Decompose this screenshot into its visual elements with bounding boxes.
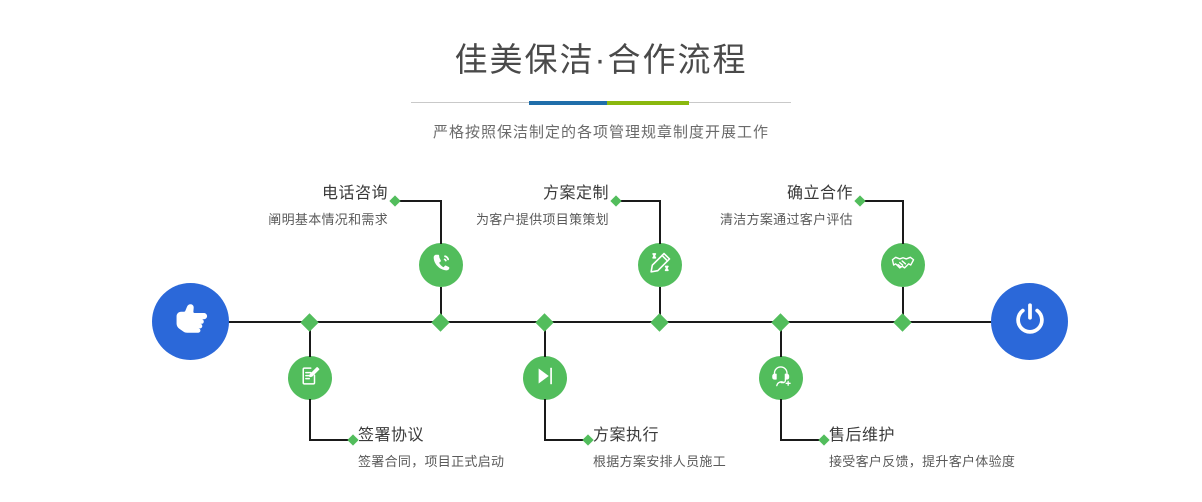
step-label-6: 售后维护 接受客户反馈，提升客户体验度: [829, 428, 1119, 468]
step-node-2[interactable]: [288, 356, 332, 400]
step-desc-5: 清洁方案通过客户评估: [638, 213, 853, 226]
step-leader-vertical-6: [780, 399, 782, 440]
step-axis-marker-6: [771, 313, 789, 331]
customer-support-icon: [769, 363, 794, 393]
pointing-hand-icon: [170, 298, 212, 345]
step-axis-marker-4: [535, 313, 553, 331]
start-endpoint[interactable]: [152, 283, 229, 360]
step-leader-vertical-4: [544, 399, 546, 440]
step-title-6: 售后维护: [829, 428, 1119, 444]
step-label-3: 方案定制 为客户提供项目策策划: [394, 186, 609, 226]
step-node-6[interactable]: [759, 356, 803, 400]
step-leader-marker-5: [854, 195, 865, 206]
step-node-1[interactable]: [419, 243, 463, 287]
step-desc-2: 签署合同，项目正式启动: [358, 455, 618, 468]
power-icon: [1010, 299, 1050, 344]
step-axis-marker-1: [431, 313, 449, 331]
step-node-3[interactable]: [638, 243, 682, 287]
step-title-4: 方案执行: [593, 428, 853, 444]
phone-call-icon: [429, 250, 454, 280]
step-axis-marker-5: [893, 313, 911, 331]
step-title-2: 签署协议: [358, 428, 618, 444]
step-axis-marker-2: [300, 313, 318, 331]
step-leader-vertical-5: [902, 200, 904, 244]
step-desc-4: 根据方案安排人员施工: [593, 455, 853, 468]
play-execute-icon: [533, 364, 557, 393]
step-node-5[interactable]: [881, 243, 925, 287]
step-desc-1: 阐明基本情况和需求: [173, 213, 388, 226]
step-label-4: 方案执行 根据方案安排人员施工: [593, 428, 853, 468]
step-desc-6: 接受客户反馈，提升客户体验度: [829, 455, 1119, 468]
step-axis-marker-3: [650, 313, 668, 331]
document-edit-icon: [298, 364, 322, 393]
handshake-icon: [890, 250, 916, 281]
step-leader-horizontal-5: [861, 200, 903, 202]
end-endpoint[interactable]: [991, 283, 1068, 360]
pencil-design-icon: [648, 250, 673, 280]
process-timeline: 电话咨询 阐明基本情况和需求 签署协议 签署合同，项目正式启动: [0, 0, 1202, 502]
step-label-1: 电话咨询 阐明基本情况和需求: [173, 186, 388, 226]
step-title-1: 电话咨询: [173, 186, 388, 202]
step-title-5: 确立合作: [638, 186, 853, 202]
step-label-5: 确立合作 清洁方案通过客户评估: [638, 186, 853, 226]
step-leader-marker-3: [610, 195, 621, 206]
step-title-3: 方案定制: [394, 186, 609, 202]
step-label-2: 签署协议 签署合同，项目正式启动: [358, 428, 618, 468]
step-node-4[interactable]: [523, 356, 567, 400]
step-leader-marker-2: [347, 434, 358, 445]
step-leader-vertical-2: [309, 399, 311, 440]
flow-diagram-page: 佳美保洁·合作流程 严格按照保洁制定的各项管理规章制度开展工作: [0, 0, 1202, 502]
step-desc-3: 为客户提供项目策策划: [394, 213, 609, 226]
